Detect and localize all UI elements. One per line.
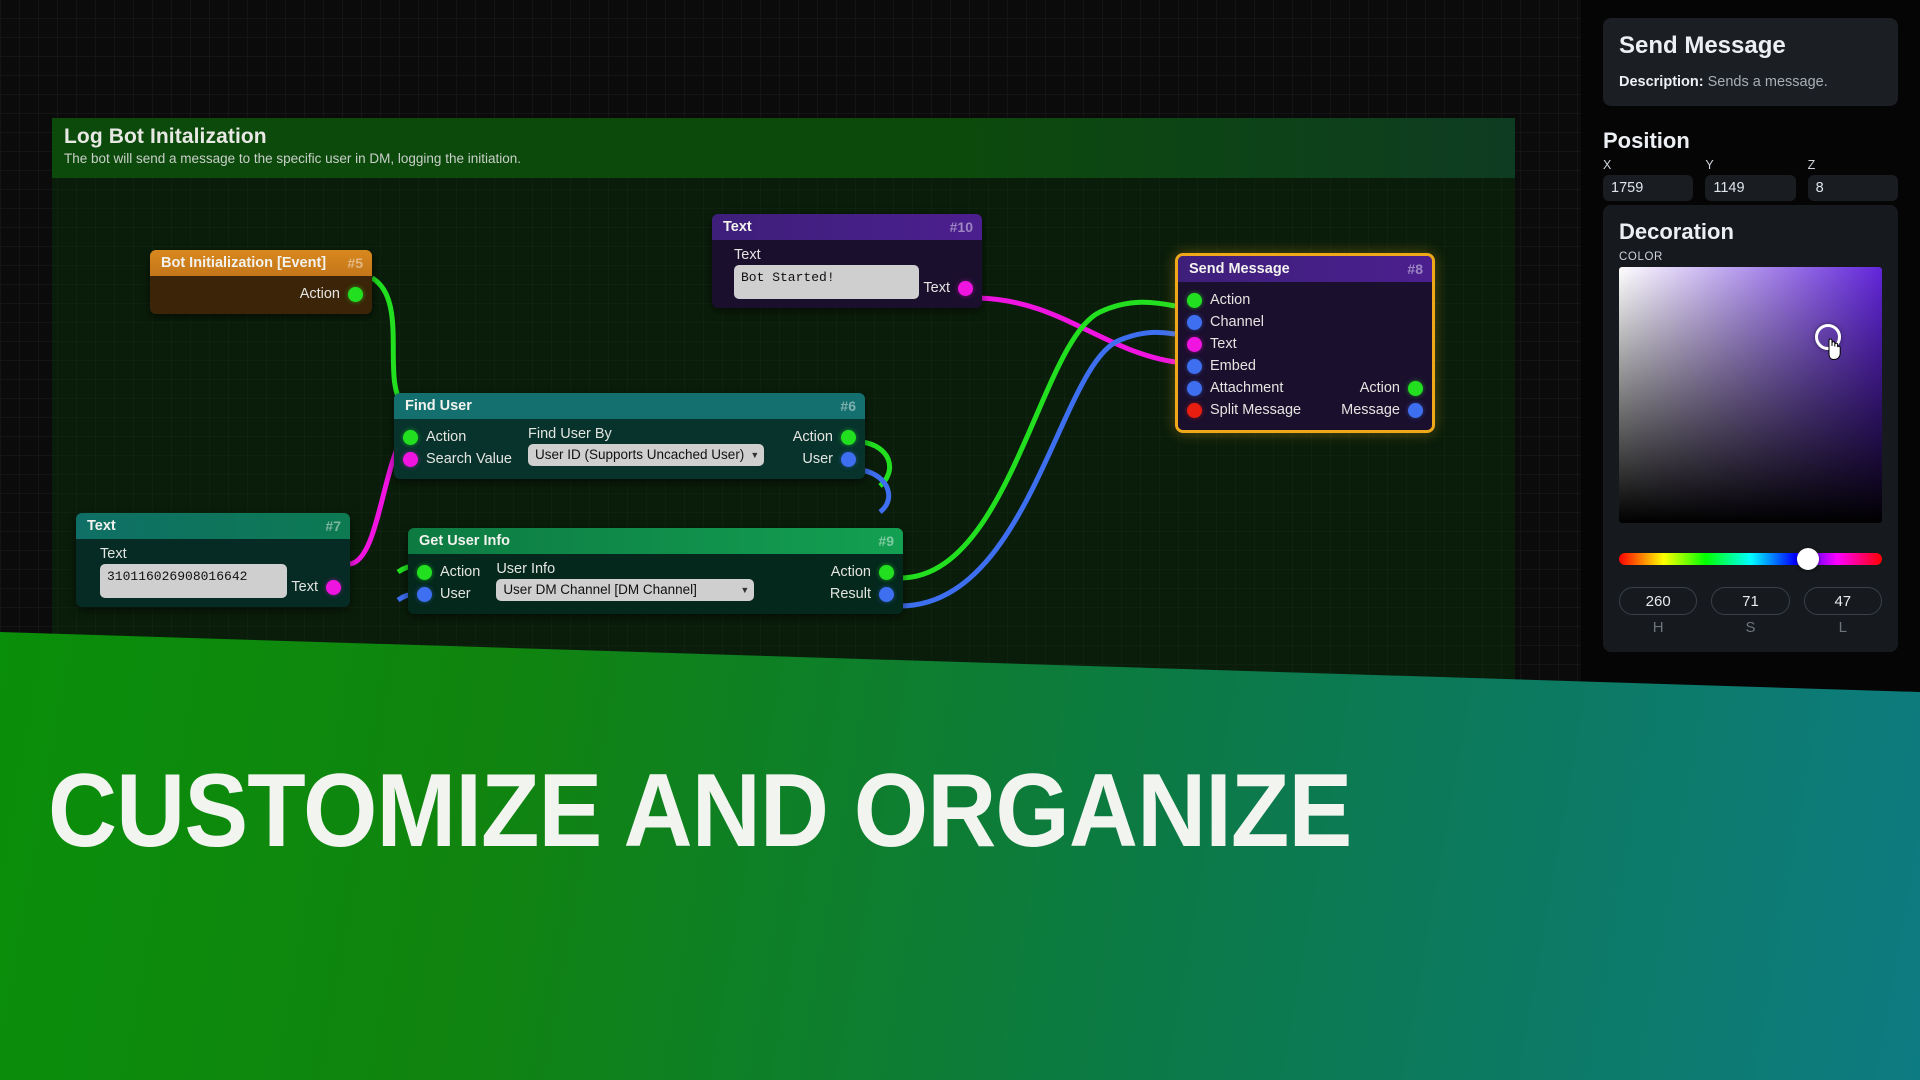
- output-pin-action[interactable]: Action: [830, 561, 903, 583]
- node-title: Send Message: [1189, 261, 1290, 277]
- saturation-caption: S: [1711, 619, 1789, 636]
- node-header[interactable]: Find User #6: [394, 393, 865, 419]
- hand-cursor-icon: [1825, 337, 1843, 361]
- description-label: Description:: [1619, 74, 1704, 90]
- node-info-card: Send Message Description: Sends a messag…: [1603, 18, 1898, 106]
- node-header[interactable]: Send Message #8: [1178, 256, 1432, 282]
- node-outputs: Text: [923, 277, 982, 299]
- pin-label: Attachment: [1210, 380, 1283, 396]
- panel-description: Description: Sends a message.: [1619, 74, 1882, 90]
- decoration-heading: Decoration: [1619, 219, 1882, 245]
- pin-label: Action: [300, 286, 340, 302]
- node-id: #6: [840, 398, 856, 414]
- pin-dot-green[interactable]: [879, 565, 894, 580]
- node-inputs: Action Search Value: [394, 426, 512, 470]
- node-bot-initialization[interactable]: Bot Initialization [Event] #5 Action: [150, 250, 372, 314]
- pin-label: Text: [291, 579, 318, 595]
- input-pin-action[interactable]: Action: [403, 426, 512, 448]
- node-outputs: Action Message: [1341, 377, 1432, 421]
- pin-dot-blue[interactable]: [1408, 403, 1423, 418]
- node-body: Action: [150, 276, 372, 314]
- pin-label: Text: [1210, 336, 1237, 352]
- hsl-field-h: 260 H: [1619, 587, 1697, 636]
- node-header[interactable]: Bot Initialization [Event] #5: [150, 250, 372, 276]
- input-pin-split-message[interactable]: Split Message: [1187, 399, 1341, 421]
- node-outputs: Action: [150, 283, 372, 305]
- output-pin-user[interactable]: User: [793, 448, 865, 470]
- field-caption: Y: [1705, 158, 1795, 172]
- pin-dot-green[interactable]: [403, 430, 418, 445]
- color-caption: COLOR: [1619, 251, 1882, 263]
- x-input[interactable]: 1759: [1603, 175, 1693, 201]
- chevron-down-icon: ▼: [740, 585, 749, 595]
- node-outputs: Action User: [793, 426, 865, 470]
- node-get-user-info[interactable]: Get User Info #9 Action User User Info U…: [408, 528, 903, 614]
- decoration-card: Decoration COLOR 260 H 71 S 47 L: [1603, 205, 1898, 652]
- node-body: Text 310116026908016642 Text: [76, 539, 350, 607]
- output-pin-text[interactable]: Text: [923, 277, 982, 299]
- input-pin-action[interactable]: Action: [417, 561, 480, 583]
- pin-label: Action: [793, 429, 833, 445]
- node-id: #8: [1407, 261, 1423, 277]
- field-caption: X: [1603, 158, 1693, 172]
- pin-label: Split Message: [1210, 402, 1301, 418]
- pin-dot-green[interactable]: [1408, 381, 1423, 396]
- node-outputs: Text: [291, 576, 350, 598]
- node-header[interactable]: Get User Info #9: [408, 528, 903, 554]
- node-send-message[interactable]: Send Message #8 Action Channel Text: [1175, 253, 1435, 433]
- pin-dot-magenta[interactable]: [403, 452, 418, 467]
- pin-dot-red[interactable]: [1187, 403, 1202, 418]
- node-title: Text: [723, 219, 752, 235]
- pin-dot-magenta[interactable]: [958, 281, 973, 296]
- pin-label: User: [802, 451, 833, 467]
- find-user-by-select[interactable]: User ID (Supports Uncached User) ▼: [528, 444, 764, 466]
- saturation-input[interactable]: 71: [1711, 587, 1789, 615]
- pin-label: Search Value: [426, 451, 512, 467]
- saturation-value-area[interactable]: [1619, 267, 1882, 523]
- hsl-fields: 260 H 71 S 47 L: [1619, 587, 1882, 636]
- output-pin-text[interactable]: Text: [291, 576, 350, 598]
- node-header[interactable]: Text #10: [712, 214, 982, 240]
- output-pin-result[interactable]: Result: [830, 583, 903, 605]
- pin-label: Action: [440, 564, 480, 580]
- output-pin-action[interactable]: Action: [1341, 377, 1432, 399]
- node-text-7[interactable]: Text #7 Text 310116026908016642 Text: [76, 513, 350, 607]
- field-label: Text: [734, 247, 919, 263]
- hue-slider[interactable]: [1619, 549, 1882, 569]
- z-input[interactable]: 8: [1808, 175, 1898, 201]
- node-title: Bot Initialization [Event]: [161, 255, 326, 271]
- inspector-panel: Send Message Description: Sends a messag…: [1581, 0, 1920, 800]
- hue-bar[interactable]: [1619, 553, 1882, 565]
- pin-label: Action: [831, 564, 871, 580]
- pin-dot-green[interactable]: [417, 565, 432, 580]
- pin-dot-blue[interactable]: [1187, 315, 1202, 330]
- lightness-caption: L: [1804, 619, 1882, 636]
- node-body: Action Channel Text Embed Attachment: [1178, 282, 1432, 430]
- input-pin-embed[interactable]: Embed: [1187, 355, 1341, 377]
- pin-dot-green[interactable]: [1187, 293, 1202, 308]
- text-input[interactable]: Bot Started!: [734, 265, 919, 299]
- input-pin-action[interactable]: Action: [1187, 289, 1341, 311]
- pin-dot-blue[interactable]: [417, 587, 432, 602]
- banner-headline: CUSTOMIZE AND ORGANIZE: [48, 752, 1351, 871]
- node-text-10[interactable]: Text #10 Text Bot Started! Text: [712, 214, 982, 308]
- hsl-field-s: 71 S: [1711, 587, 1789, 636]
- node-id: #7: [325, 518, 341, 534]
- position-field-x: X 1759: [1603, 158, 1693, 201]
- pin-label: Action: [1360, 380, 1400, 396]
- pin-label: Action: [1210, 292, 1250, 308]
- node-id: #10: [950, 219, 973, 235]
- node-title: Text: [87, 518, 116, 534]
- node-header[interactable]: Text #7: [76, 513, 350, 539]
- node-title: Find User: [405, 398, 472, 414]
- y-input[interactable]: 1149: [1705, 175, 1795, 201]
- pin-label: Message: [1341, 402, 1400, 418]
- pin-dot-blue[interactable]: [1187, 359, 1202, 374]
- description-value: Sends a message.: [1708, 74, 1828, 90]
- input-pin-user[interactable]: User: [417, 583, 480, 605]
- pin-label: Action: [426, 429, 466, 445]
- input-pin-text[interactable]: Text: [1187, 333, 1341, 355]
- select-value: User ID (Supports Uncached User): [535, 447, 744, 462]
- node-body: Action Search Value Find User By User ID…: [394, 419, 865, 479]
- position-heading: Position: [1603, 128, 1898, 154]
- output-pin-message[interactable]: Message: [1341, 399, 1432, 421]
- panel-node-title: Send Message: [1619, 32, 1882, 60]
- hue-slider-handle[interactable]: [1797, 548, 1819, 570]
- position-field-z: Z 8: [1808, 158, 1898, 201]
- text-input[interactable]: 310116026908016642: [100, 564, 287, 598]
- pin-label: Result: [830, 586, 871, 602]
- node-inputs: Action Channel Text Embed Attachment: [1178, 289, 1341, 421]
- pin-label: Text: [923, 280, 950, 296]
- pin-label: Channel: [1210, 314, 1264, 330]
- node-id: #9: [878, 533, 894, 549]
- pin-label: Embed: [1210, 358, 1256, 374]
- lightness-input[interactable]: 47: [1804, 587, 1882, 615]
- pin-dot-magenta[interactable]: [326, 580, 341, 595]
- hsl-field-l: 47 L: [1804, 587, 1882, 636]
- chevron-down-icon: ▼: [750, 450, 759, 460]
- node-title: Get User Info: [419, 533, 510, 549]
- output-pin-action[interactable]: Action: [793, 426, 865, 448]
- position-field-y: Y 1149: [1705, 158, 1795, 201]
- field-caption: Z: [1808, 158, 1898, 172]
- hue-input[interactable]: 260: [1619, 587, 1697, 615]
- pin-label: User: [440, 586, 471, 602]
- pin-dot-green[interactable]: [348, 287, 363, 302]
- input-pin-channel[interactable]: Channel: [1187, 311, 1341, 333]
- pin-dot-blue[interactable]: [841, 452, 856, 467]
- pin-dot-green[interactable]: [841, 430, 856, 445]
- field-label: Find User By: [528, 426, 793, 442]
- field-label: User Info: [496, 561, 830, 577]
- node-find-user[interactable]: Find User #6 Action Search Value Find Us…: [394, 393, 865, 479]
- node-body: Action User User Info User DM Channel [D…: [408, 554, 903, 614]
- output-pin-action[interactable]: Action: [150, 283, 372, 305]
- pin-dot-magenta[interactable]: [1187, 337, 1202, 352]
- position-fields: X 1759 Y 1149 Z 8: [1603, 158, 1898, 201]
- hue-caption: H: [1619, 619, 1697, 636]
- node-body: Text Bot Started! Text: [712, 240, 982, 308]
- node-inputs: Action User: [408, 561, 480, 605]
- input-pin-attachment[interactable]: Attachment: [1187, 377, 1341, 399]
- pin-dot-blue[interactable]: [1187, 381, 1202, 396]
- user-info-select[interactable]: User DM Channel [DM Channel] ▼: [496, 579, 754, 601]
- field-label: Text: [100, 546, 287, 562]
- node-outputs: Action Result: [830, 561, 903, 605]
- select-value: User DM Channel [DM Channel]: [503, 582, 697, 597]
- node-id: #5: [347, 255, 363, 271]
- pin-dot-blue[interactable]: [879, 587, 894, 602]
- input-pin-search-value[interactable]: Search Value: [403, 448, 512, 470]
